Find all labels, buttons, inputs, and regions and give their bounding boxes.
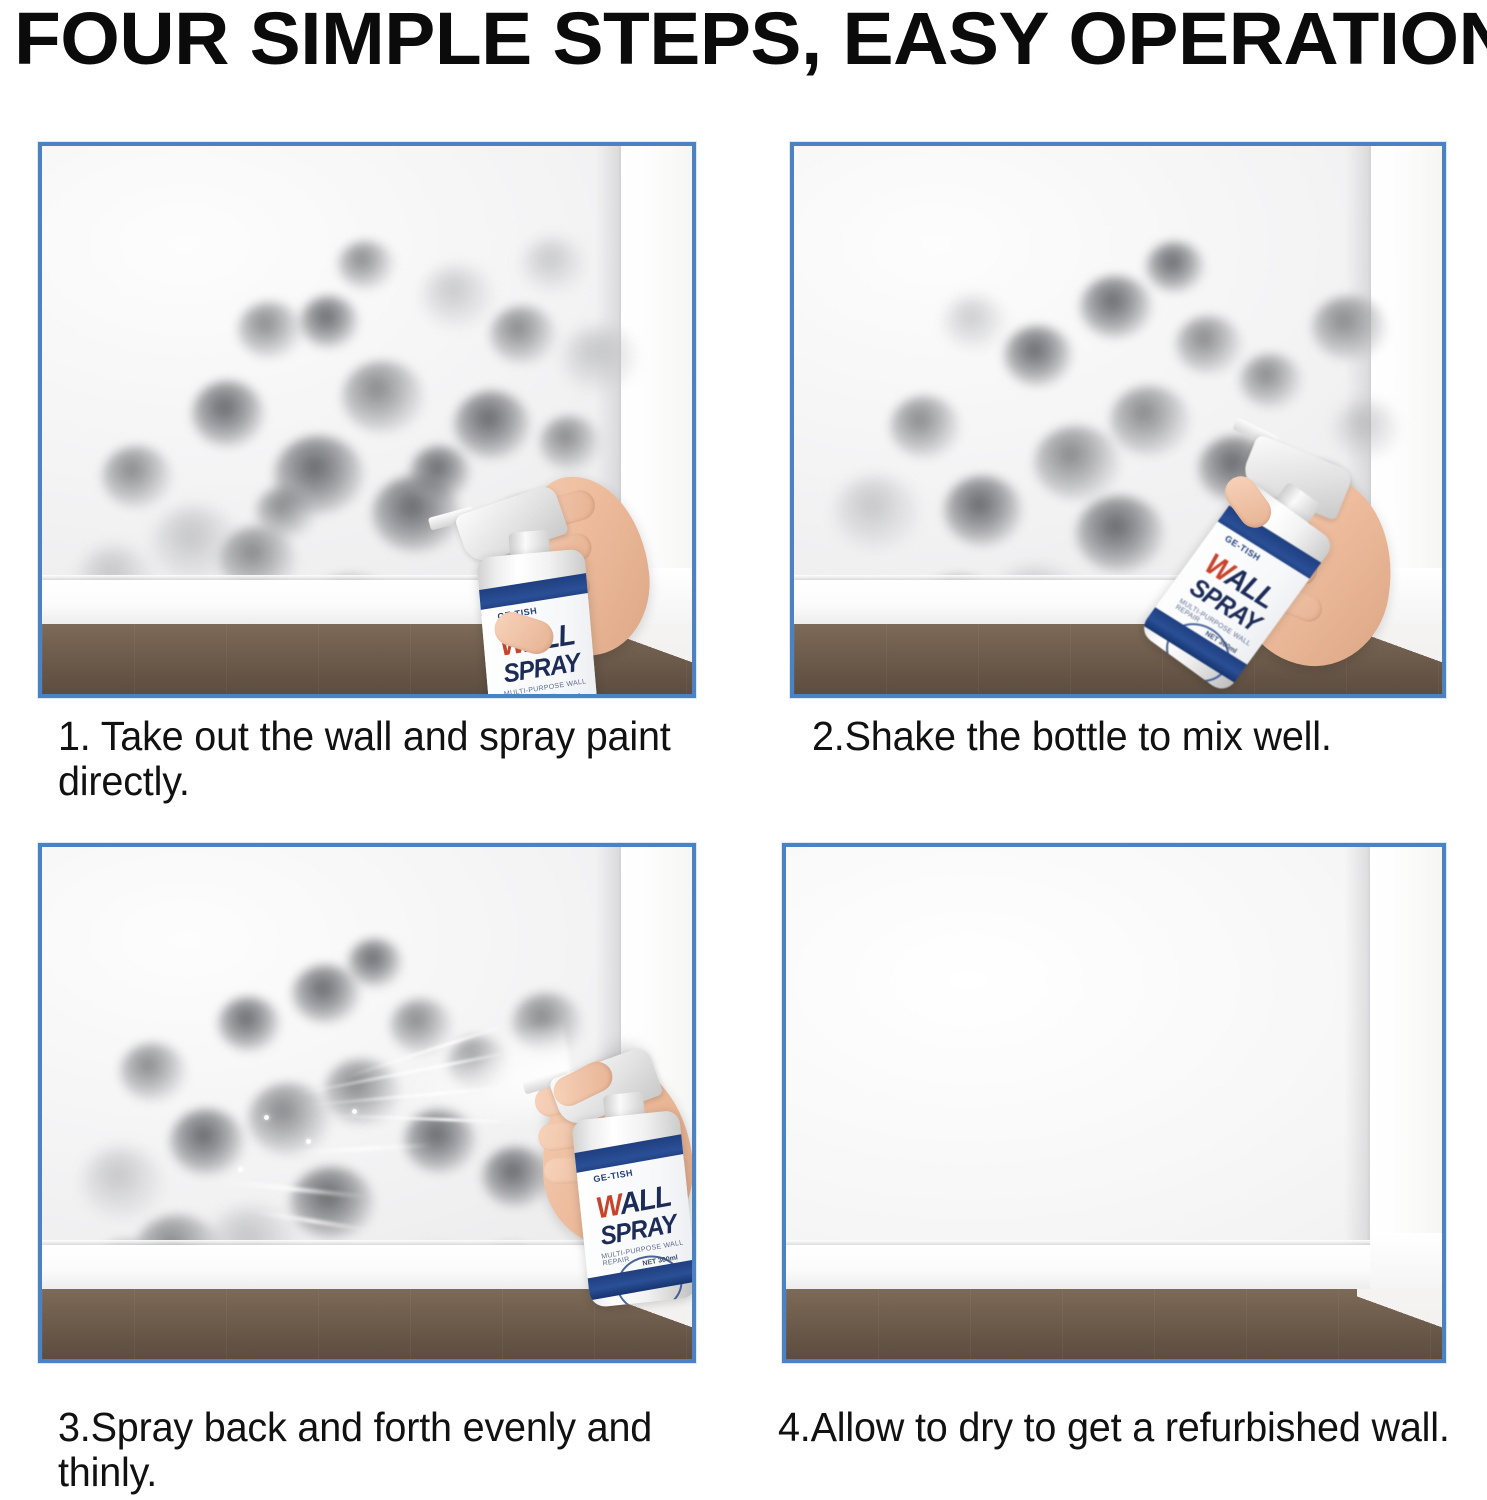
steps-grid: GE-TISH WALL SPRAY MULTI-PURPOSE WALL RE… (0, 0, 1487, 1500)
scene-moldy-wall-2: GE-TISH WALL SPRAY MULTI-PURPOSE WALL RE… (794, 146, 1442, 694)
floor-perspective-edge (1357, 1289, 1442, 1359)
step-card-1: GE-TISH WALL SPRAY MULTI-PURPOSE WALL RE… (38, 142, 696, 698)
step-card-4 (782, 843, 1446, 1363)
scene-moldy-wall-1: GE-TISH WALL SPRAY MULTI-PURPOSE WALL RE… (42, 146, 692, 694)
step-3-caption: 3.Spray back and forth evenly and thinly… (58, 1405, 714, 1495)
spray-droplet (264, 1115, 269, 1120)
spray-droplet (352, 1109, 357, 1114)
step-card-2: GE-TISH WALL SPRAY MULTI-PURPOSE WALL RE… (790, 142, 1446, 698)
step-4-photo-frame (782, 843, 1446, 1363)
step-3-photo-frame: GE-TISH WALL SPRAY MULTI-PURPOSE WALL RE… (38, 843, 696, 1363)
scene-clean-wall (786, 847, 1442, 1359)
step-card-3: GE-TISH WALL SPRAY MULTI-PURPOSE WALL RE… (38, 843, 696, 1363)
step-4-caption: 4.Allow to dry to get a refurbished wall… (778, 1405, 1454, 1450)
bottle-body: GE-TISH WALL SPRAY MULTI-PURPOSE WALL RE… (571, 1110, 692, 1308)
wood-floor (786, 1289, 1442, 1359)
step-2-caption: 2.Shake the bottle to mix well. (812, 714, 1449, 759)
spray-droplet (306, 1139, 311, 1144)
baseboard-corner (1370, 1233, 1442, 1291)
baseboard (786, 1245, 1442, 1291)
scene-spraying-wall: GE-TISH WALL SPRAY MULTI-PURPOSE WALL RE… (42, 847, 692, 1359)
step-2-photo-frame: GE-TISH WALL SPRAY MULTI-PURPOSE WALL RE… (790, 142, 1446, 698)
step-1-caption: 1. Take out the wall and spray paint dir… (58, 714, 714, 804)
spray-bottle: GE-TISH WALL SPRAY MULTI-PURPOSE WALL RE… (472, 497, 601, 694)
spray-droplet (238, 1167, 243, 1172)
step-1-photo-frame: GE-TISH WALL SPRAY MULTI-PURPOSE WALL RE… (38, 142, 696, 698)
